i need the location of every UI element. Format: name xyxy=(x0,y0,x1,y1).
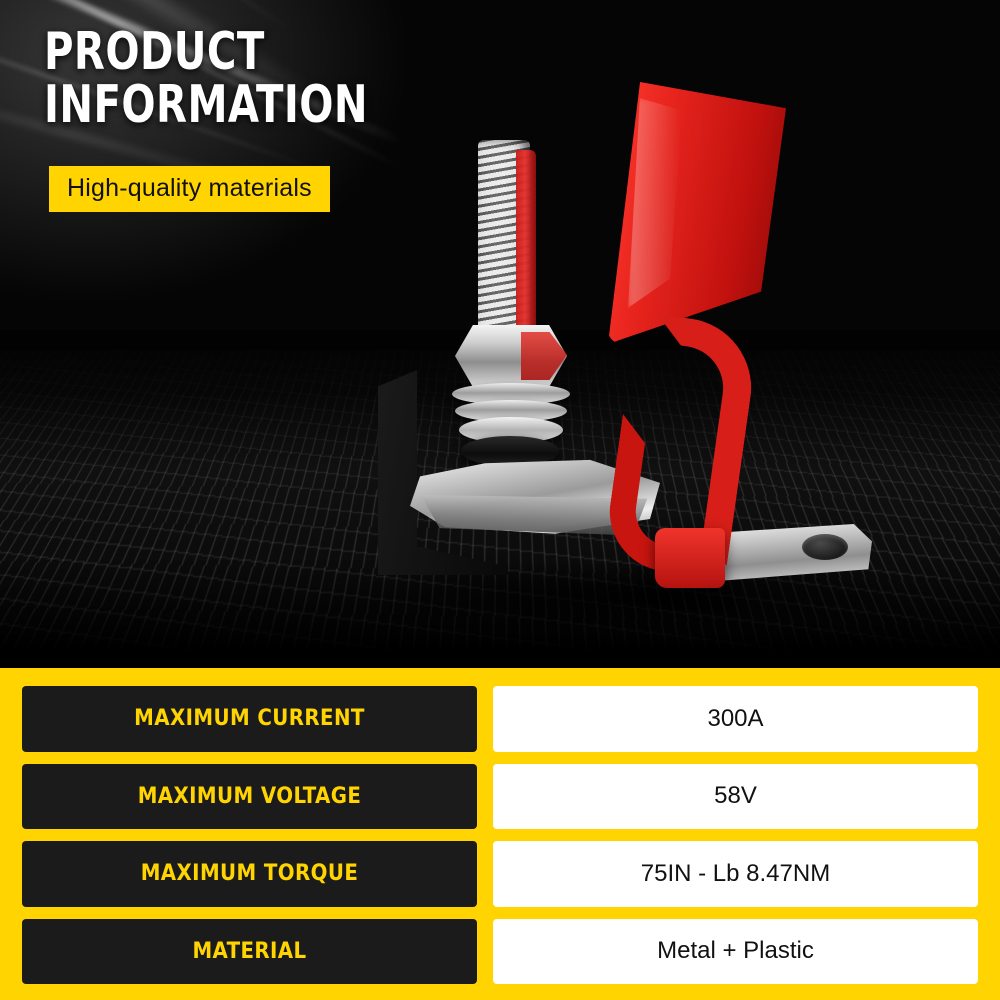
lug-hole xyxy=(802,534,848,560)
specification-table: MAXIMUM CURRENT 300A MAXIMUM VOLTAGE 58V… xyxy=(0,668,1000,1000)
hex-nut-red-reflection xyxy=(521,332,567,380)
tagline-badge: High-quality materials xyxy=(49,166,330,212)
headline-line-2: INFORMATION xyxy=(44,79,368,132)
spec-value: 300A xyxy=(493,686,978,752)
table-row: MAXIMUM VOLTAGE 58V xyxy=(22,764,978,830)
table-row: MAXIMUM CURRENT 300A xyxy=(22,686,978,752)
stud-red-reflection xyxy=(516,150,536,335)
spec-label: MAXIMUM VOLTAGE xyxy=(22,764,477,830)
table-row: MAXIMUM TORQUE 75IN - Lb 8.47NM xyxy=(22,841,978,907)
spec-value: 58V xyxy=(493,764,978,830)
headline-line-1: PRODUCT xyxy=(44,26,368,79)
spec-label: MAXIMUM CURRENT xyxy=(22,686,477,752)
spec-value: 75IN - Lb 8.47NM xyxy=(493,841,978,907)
red-cover-foot xyxy=(655,528,725,588)
spec-value: Metal + Plastic xyxy=(493,919,978,985)
spec-label: MATERIAL xyxy=(22,919,477,985)
table-row: MATERIAL Metal + Plastic xyxy=(22,919,978,985)
spec-label: MAXIMUM TORQUE xyxy=(22,841,477,907)
page-title: PRODUCT INFORMATION xyxy=(44,26,368,132)
hero-image: PRODUCT INFORMATION High-quality materia… xyxy=(0,0,1000,668)
